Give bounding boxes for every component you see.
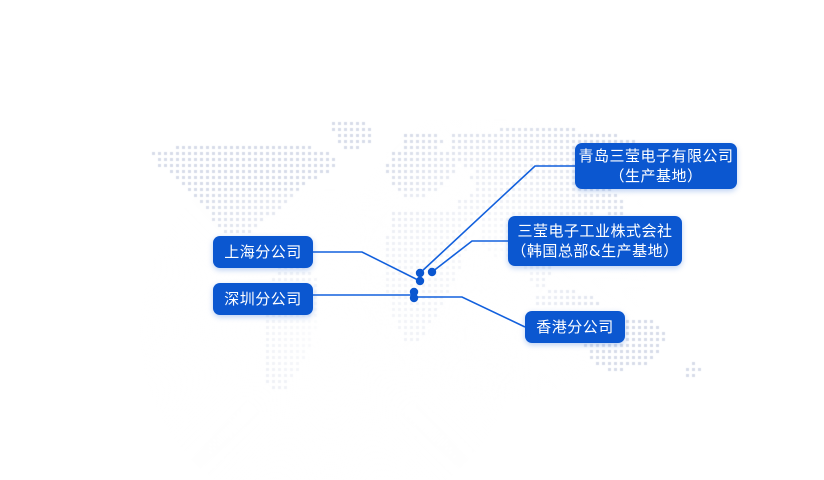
label-shanghai-line1: 上海分公司 xyxy=(224,242,302,262)
connector-korea xyxy=(432,241,508,272)
connector-hongkong xyxy=(414,297,525,327)
world-map-infographic: 青岛三莹电子有限公司 （生产基地） 三莹电子工业株式会社 （韩国总部&生产基地）… xyxy=(0,0,824,480)
label-shenzhen-line1: 深圳分公司 xyxy=(224,289,302,309)
marker-qingdao[interactable] xyxy=(416,269,424,277)
label-qingdao-line1: 青岛三莹电子有限公司 xyxy=(578,146,733,166)
marker-korea[interactable] xyxy=(428,268,436,276)
label-hongkong-line1: 香港分公司 xyxy=(536,317,614,337)
connector-shanghai xyxy=(313,252,420,281)
label-korea[interactable]: 三莹电子工业株式会社 （韩国总部&生产基地） xyxy=(508,216,682,266)
label-shanghai[interactable]: 上海分公司 xyxy=(213,236,313,268)
label-hongkong[interactable]: 香港分公司 xyxy=(525,311,625,343)
connector-lines xyxy=(0,0,824,480)
label-korea-line1: 三莹电子工业株式会社 xyxy=(517,221,672,241)
label-qingdao[interactable]: 青岛三莹电子有限公司 （生产基地） xyxy=(575,143,737,189)
label-shenzhen[interactable]: 深圳分公司 xyxy=(213,283,313,315)
marker-shanghai[interactable] xyxy=(416,277,424,285)
label-qingdao-line2: （生产基地） xyxy=(609,166,702,186)
label-korea-line2: （韩国总部&生产基地） xyxy=(511,241,678,261)
marker-hongkong[interactable] xyxy=(410,294,418,302)
